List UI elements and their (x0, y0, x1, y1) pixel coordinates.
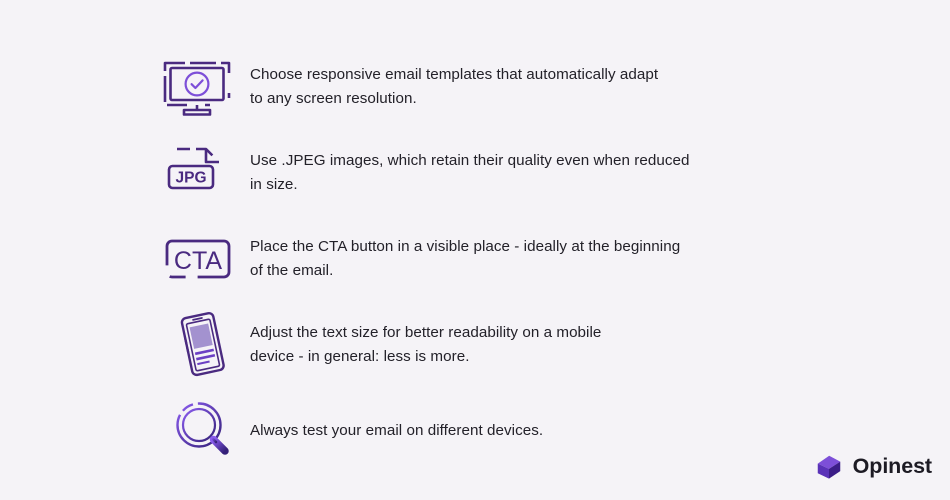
tip-line-1: Use .JPEG images, which retain their qua… (250, 149, 690, 173)
tip-item: CTA Place the CTA button in a visible pl… (158, 216, 798, 302)
tip-text: Place the CTA button in a visible place … (244, 235, 680, 283)
brand-logo: Opinest (814, 452, 932, 482)
infographic-canvas: Choose responsive email templates that a… (0, 0, 950, 500)
tip-line-1: Choose responsive email templates that a… (250, 63, 658, 87)
tip-line-2: to any screen resolution. (250, 87, 658, 111)
tip-item: Adjust the text size for better readabil… (158, 302, 798, 388)
tip-item: JPG Use .JPEG images, which retain their… (158, 130, 798, 216)
tip-text: Choose responsive email templates that a… (244, 63, 658, 111)
tip-text: Adjust the text size for better readabil… (244, 321, 601, 369)
tip-line-2: device - in general: less is more. (250, 345, 601, 369)
tip-text: Always test your email on different devi… (244, 419, 543, 443)
magnifier-chart-icon (158, 391, 244, 471)
tip-line-2: in size. (250, 173, 690, 197)
tip-list: Choose responsive email templates that a… (158, 44, 798, 474)
tip-line-1: Always test your email on different devi… (250, 419, 543, 443)
tip-text: Use .JPEG images, which retain their qua… (244, 149, 690, 197)
opinest-logo-mark (814, 452, 844, 482)
opinest-logo-text: Opinest (853, 456, 932, 478)
cta-button-icon: CTA (158, 219, 244, 299)
monitor-check-icon (158, 47, 244, 127)
tip-line-1: Place the CTA button in a visible place … (250, 235, 680, 259)
jpg-file-icon: JPG (158, 133, 244, 213)
mobile-phone-icon (158, 305, 244, 385)
tip-line-1: Adjust the text size for better readabil… (250, 321, 601, 345)
tip-item: Choose responsive email templates that a… (158, 44, 798, 130)
tip-line-2: of the email. (250, 259, 680, 283)
tip-item: Always test your email on different devi… (158, 388, 798, 474)
cta-label: CTA (174, 247, 222, 275)
jpg-label: JPG (175, 170, 206, 187)
